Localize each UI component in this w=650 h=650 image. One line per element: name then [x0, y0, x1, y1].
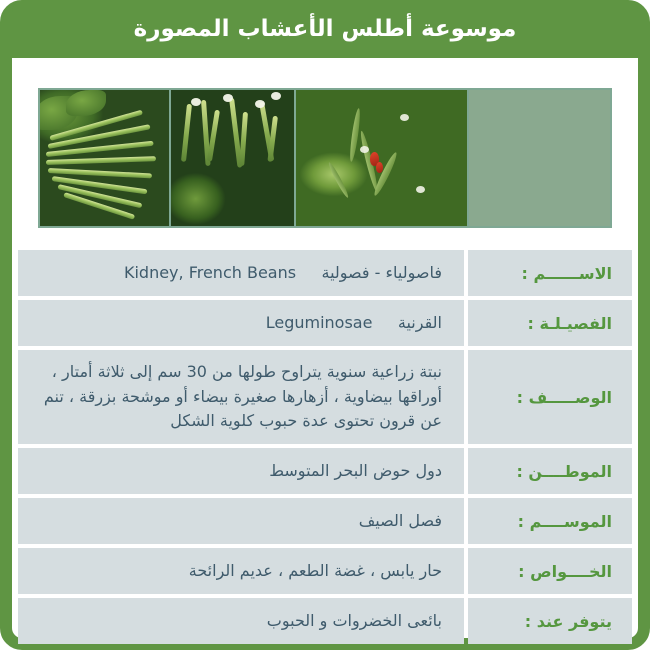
vine-foliage — [296, 90, 467, 226]
table-row-properties: الخــــواص : حار يابس ، غضة الطعم ، عديم… — [18, 548, 632, 594]
photo-hanging-green-pods — [171, 90, 294, 226]
table-row-availability: يتوفر عند : بائعى الخضروات و الحبوب — [18, 598, 632, 644]
row-value-name: فاصولياء - فصولية Kidney, French Beans — [18, 250, 464, 296]
table-row-name: الاســــــم : فاصولياء - فصولية Kidney, … — [18, 250, 632, 296]
photo-harvested-green-beans — [40, 90, 169, 226]
photo-dried-white-kidney-beans — [469, 90, 610, 226]
beans-texture — [469, 90, 610, 226]
table-row-family: الفصيـلـة : القرنية Leguminosae — [18, 300, 632, 346]
table-row-description: الوصـــــف : نبتة زراعية سنوية يتراوح طو… — [18, 350, 632, 444]
properties-value-text: حار يابس ، غضة الطعم ، عديم الرائحة — [32, 559, 442, 584]
row-value-availability: بائعى الخضروات و الحبوب — [18, 598, 464, 644]
table-row-season: الموســــم : فصل الصيف — [18, 498, 632, 544]
herb-atlas-card: موسوعة أطلس الأعشاب المصورة — [0, 0, 650, 650]
row-value-season: فصل الصيف — [18, 498, 464, 544]
availability-value-text: بائعى الخضروات و الحبوب — [32, 609, 442, 634]
row-label-habitat: الموطــــن : — [468, 448, 632, 494]
row-value-habitat: دول حوض البحر المتوسط — [18, 448, 464, 494]
red-fruit — [376, 162, 383, 173]
row-label-description: الوصـــــف : — [468, 350, 632, 444]
page-title: موسوعة أطلس الأعشاب المصورة — [134, 18, 517, 41]
row-value-properties: حار يابس ، غضة الطعم ، عديم الرائحة — [18, 548, 464, 594]
plant-info-table: الاســــــم : فاصولياء - فصولية Kidney, … — [18, 250, 632, 644]
habitat-value-text: دول حوض البحر المتوسط — [32, 459, 442, 484]
row-label-family: الفصيـلـة : — [468, 300, 632, 346]
family-value-arabic: القرنية — [398, 313, 442, 332]
season-value-text: فصل الصيف — [32, 509, 442, 534]
title-bar: موسوعة أطلس الأعشاب المصورة — [12, 0, 638, 58]
photo-gallery-strip — [38, 88, 612, 228]
row-label-name: الاســــــم : — [468, 250, 632, 296]
name-value-latin: Kidney, French Beans — [124, 263, 296, 282]
table-row-habitat: الموطــــن : دول حوض البحر المتوسط — [18, 448, 632, 494]
description-value-text: نبتة زراعية سنوية يتراوح طولها من 30 سم … — [32, 360, 442, 434]
name-value-arabic: فاصولياء - فصولية — [322, 263, 443, 282]
row-label-availability: يتوفر عند : — [468, 598, 632, 644]
row-value-description: نبتة زراعية سنوية يتراوح طولها من 30 سم … — [18, 350, 464, 444]
photo-bean-plant-with-pods — [296, 90, 467, 226]
family-value-latin: Leguminosae — [266, 313, 373, 332]
row-label-properties: الخــــواص : — [468, 548, 632, 594]
row-value-family: القرنية Leguminosae — [18, 300, 464, 346]
row-label-season: الموســــم : — [468, 498, 632, 544]
